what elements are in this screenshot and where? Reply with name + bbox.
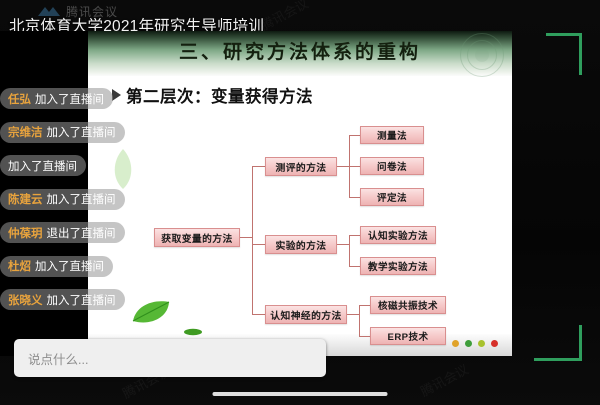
university-seal-icon [460,33,504,77]
status-dot [478,340,485,347]
chat-message-list: 任弘加入了直播间宗维洁加入了直播间加入了直播间陈建云加入了直播间仲葆玥退出了直播… [0,88,160,323]
chat-message-user: 陈建云 [8,191,43,207]
chat-message: 任弘加入了直播间 [0,88,113,109]
chat-message-action: 加入了直播间 [47,191,116,207]
mindmap-leaf-node[interactable]: 评定法 [360,188,424,206]
chat-message: 仲葆玥退出了直播间 [0,222,125,243]
chat-message-action: 加入了直播间 [47,124,116,140]
slide-header-band: 三、研究方法体系的重构 [88,31,512,76]
status-dot [465,340,472,347]
mindmap-leaf-node[interactable]: 问卷法 [360,157,424,175]
status-dot [452,340,459,347]
frame-bracket-top-right-vertical [579,33,582,75]
chat-message: 杜炤加入了直播间 [0,256,113,277]
mindmap-branch-node[interactable]: 实验的方法 [265,235,337,254]
chat-message-action: 退出了直播间 [47,225,116,241]
mindmap-branch-node[interactable]: 测评的方法 [265,157,337,176]
mindmap-leaf-node[interactable]: 测量法 [360,126,424,144]
chat-message-action: 加入了直播间 [35,91,104,107]
mindmap-leaf-node[interactable]: 核磁共振技术 [370,296,446,314]
chat-message-action: 加入了直播间 [35,258,104,274]
chat-message-user: 张晓义 [8,292,43,308]
frame-bracket-bottom-right-vertical [579,325,582,361]
mindmap-leaf-node[interactable]: 教学实验方法 [360,257,436,275]
chat-message-user: 任弘 [8,91,31,107]
frame-bracket-bottom-right [534,358,582,361]
chat-message-user: 杜炤 [8,258,31,274]
comment-input-placeholder: 说点什么... [28,349,88,368]
chat-message-user: 宗维洁 [8,124,43,140]
chat-message: 张晓义加入了直播间 [0,289,125,310]
chat-message: 陈建云加入了直播间 [0,189,125,210]
slide-status-dots [452,340,498,347]
mindmap-root-node[interactable]: 获取变量的方法 [154,228,240,247]
chat-message: 宗维洁加入了直播间 [0,122,125,143]
chat-message: 加入了直播间 [0,155,86,176]
comment-input[interactable]: 说点什么... [14,339,326,377]
chat-message-action: 加入了直播间 [47,292,116,308]
mindmap-leaf-node[interactable]: ERP技术 [370,327,446,345]
mindmap-branch-node[interactable]: 认知神经的方法 [265,305,347,324]
chat-message-user: 仲葆玥 [8,225,43,241]
status-dot [491,340,498,347]
home-indicator [213,392,388,396]
top-bar: 腾讯会议 北京体育大学2021年研究生导师培训 [0,0,600,34]
mindmap-leaf-node[interactable]: 认知实验方法 [360,226,436,244]
slide-heading: 三、研究方法体系的重构 [88,37,512,64]
chat-message-action: 加入了直播间 [8,158,77,174]
live-stream-screen: 腾讯会议 腾讯会议 腾讯会议 腾讯会议 北京体育大学2021年研究生导师培训 4… [0,0,600,405]
